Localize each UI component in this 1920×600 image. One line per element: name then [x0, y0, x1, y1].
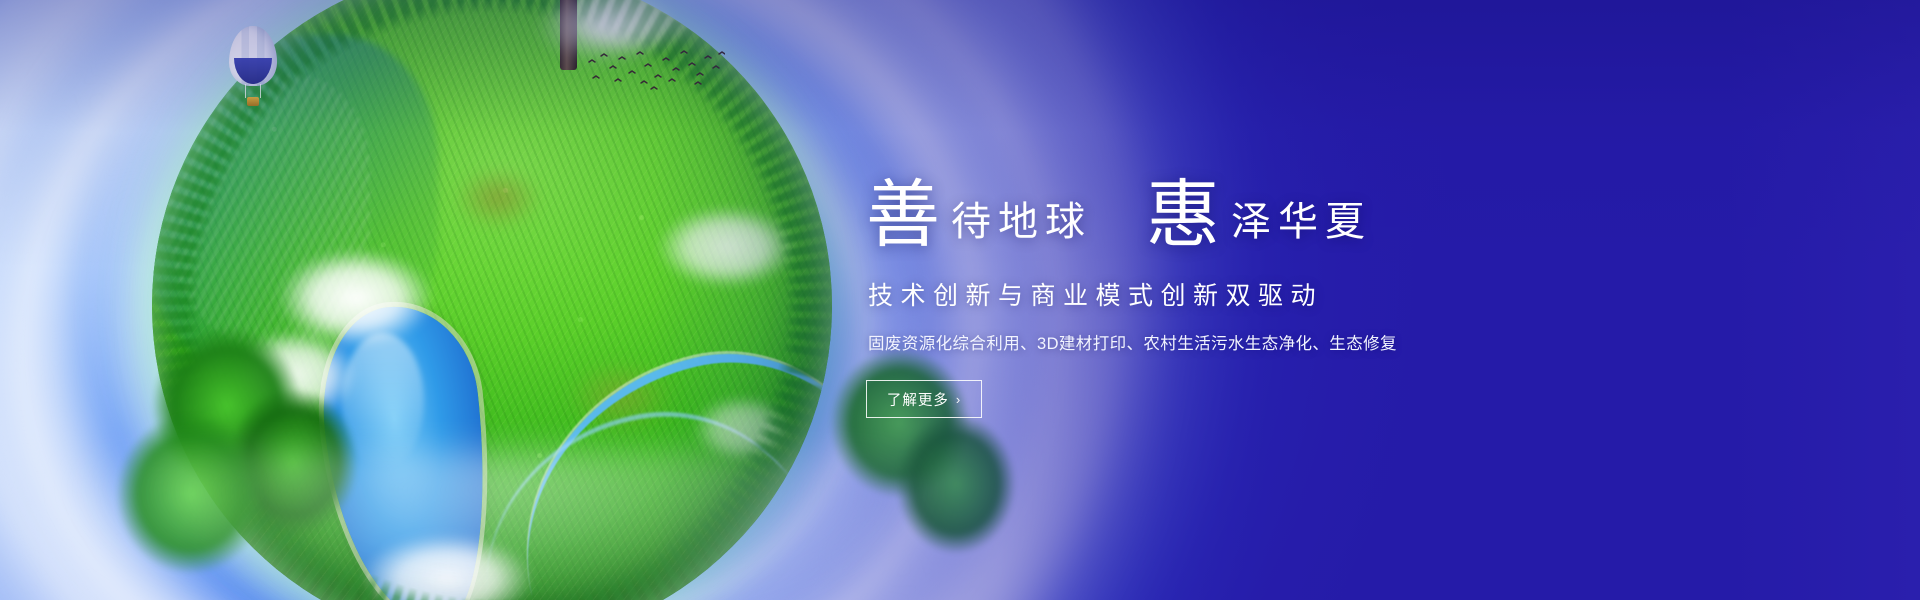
learn-more-button[interactable]: 了解更多 ›	[866, 380, 982, 418]
subtitle: 技术创新与商业模式创新双驱动	[868, 276, 1562, 312]
headline: 善 待地球 惠 泽华夏	[866, 182, 1562, 250]
learn-more-label: 了解更多	[887, 389, 949, 410]
chevron-right-icon: ›	[956, 393, 961, 406]
hero-banner: 善 待地球 惠 泽华夏 技术创新与商业模式创新双驱动 固废资源化综合利用、3D建…	[0, 0, 1920, 600]
hero-copy-block: 善 待地球 惠 泽华夏 技术创新与商业模式创新双驱动 固废资源化综合利用、3D建…	[862, 0, 1562, 600]
description: 固废资源化综合利用、3D建材打印、农村生活污水生态净化、生态修复	[868, 330, 1562, 354]
headline-part1-large: 善	[866, 182, 941, 250]
headline-part2-large: 惠	[1146, 182, 1221, 250]
headline-part1-small: 待地球	[951, 202, 1092, 250]
headline-part2-small: 泽华夏	[1231, 202, 1372, 250]
